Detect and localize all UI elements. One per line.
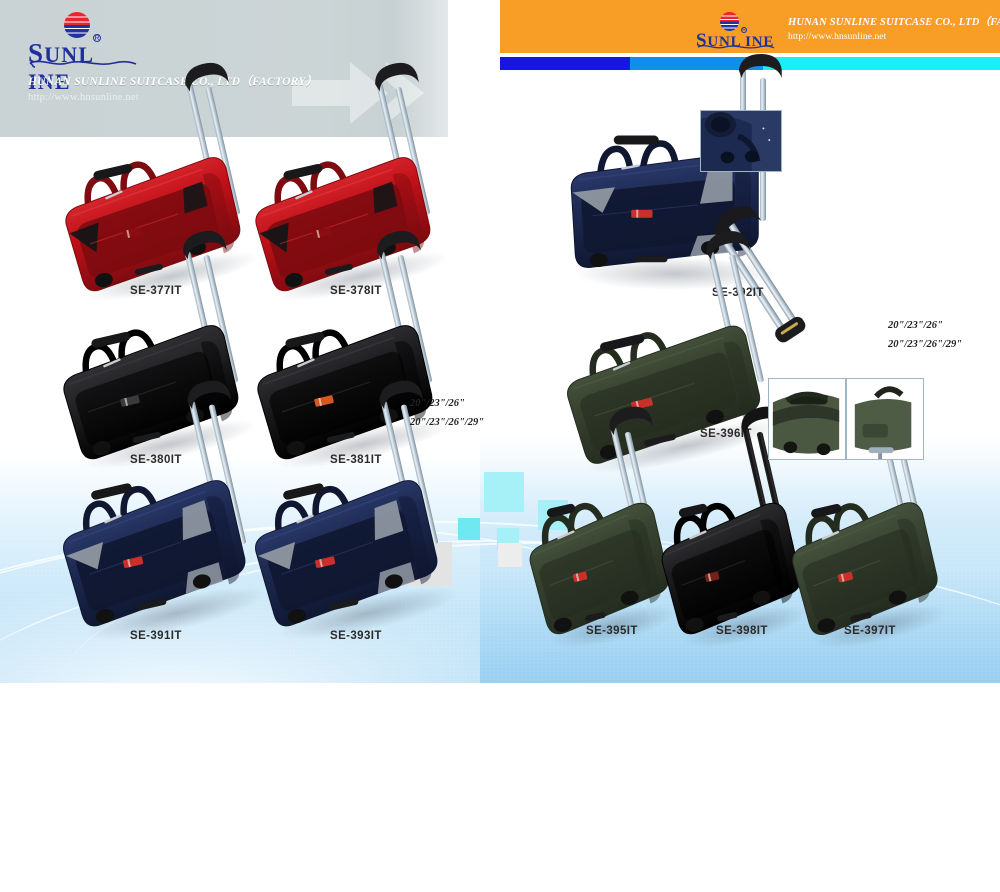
size-note-left: 20"/23"/26"20"/23"/26"/29" xyxy=(410,398,484,428)
inset-olive-side xyxy=(846,378,924,460)
inset-wheels-navy xyxy=(700,110,782,172)
size-line: 20"/23"/26"/29" xyxy=(888,339,962,350)
product-label-se-391it: SE-391IT xyxy=(130,630,182,642)
product-label-se-397it: SE-397IT xyxy=(844,625,896,637)
catalog-page: R SUNL INE HUNAN SUNLINE SUITCASE CO., L… xyxy=(0,0,1000,683)
company-name-right: HUNAN SUNLINE SUITCASE CO., LTD（FACTORY） xyxy=(788,14,1000,29)
company-url-right[interactable]: http://www.hnsunline.net xyxy=(788,32,1000,42)
product-image-se-397it xyxy=(790,492,1000,752)
sunline-sun-logo-icon xyxy=(720,12,739,31)
product-label-se-393it: SE-393IT xyxy=(330,630,382,642)
inset-olive-top xyxy=(768,378,846,460)
product-label-se-380it: SE-380IT xyxy=(130,454,182,466)
logo-wave-underline-icon xyxy=(696,44,776,51)
sunline-sun-logo-icon xyxy=(64,12,90,38)
color-bar-cyan xyxy=(763,57,1000,70)
brand-logo: R SUNL INE xyxy=(28,12,140,64)
size-line: 20"/23"/26"/29" xyxy=(410,417,484,428)
color-bar-dark-blue xyxy=(500,57,630,70)
size-line: 20"/23"/26" xyxy=(410,398,484,409)
product-label-se-395it: SE-395IT xyxy=(586,625,638,637)
company-name-left: HUNAN SUNLINE SUITCASE CO., LTD（FACTORY） xyxy=(28,73,318,89)
company-url-left[interactable]: http://www.hnsunline.net xyxy=(28,92,139,103)
double-chevron-arrow-icon xyxy=(292,58,444,128)
header-left-panel: R SUNL INE HUNAN SUNLINE SUITCASE CO., L… xyxy=(0,0,448,137)
logo-wave-underline-icon xyxy=(28,59,138,68)
size-note-right: 20"/23"/26"20"/23"/26"/29" xyxy=(888,320,962,350)
product-label-se-381it: SE-381IT xyxy=(330,454,382,466)
header-right-panel: R SUNL INE HUNAN SUNLINE SUITCASE CO., L… xyxy=(500,0,1000,53)
brand-logo-small: R SUNL INE xyxy=(696,12,780,46)
size-line: 20"/23"/26" xyxy=(888,320,962,331)
product-label-se-398it: SE-398IT xyxy=(716,625,768,637)
product-label-se-377it: SE-377IT xyxy=(130,285,182,297)
product-label-se-378it: SE-378IT xyxy=(330,285,382,297)
